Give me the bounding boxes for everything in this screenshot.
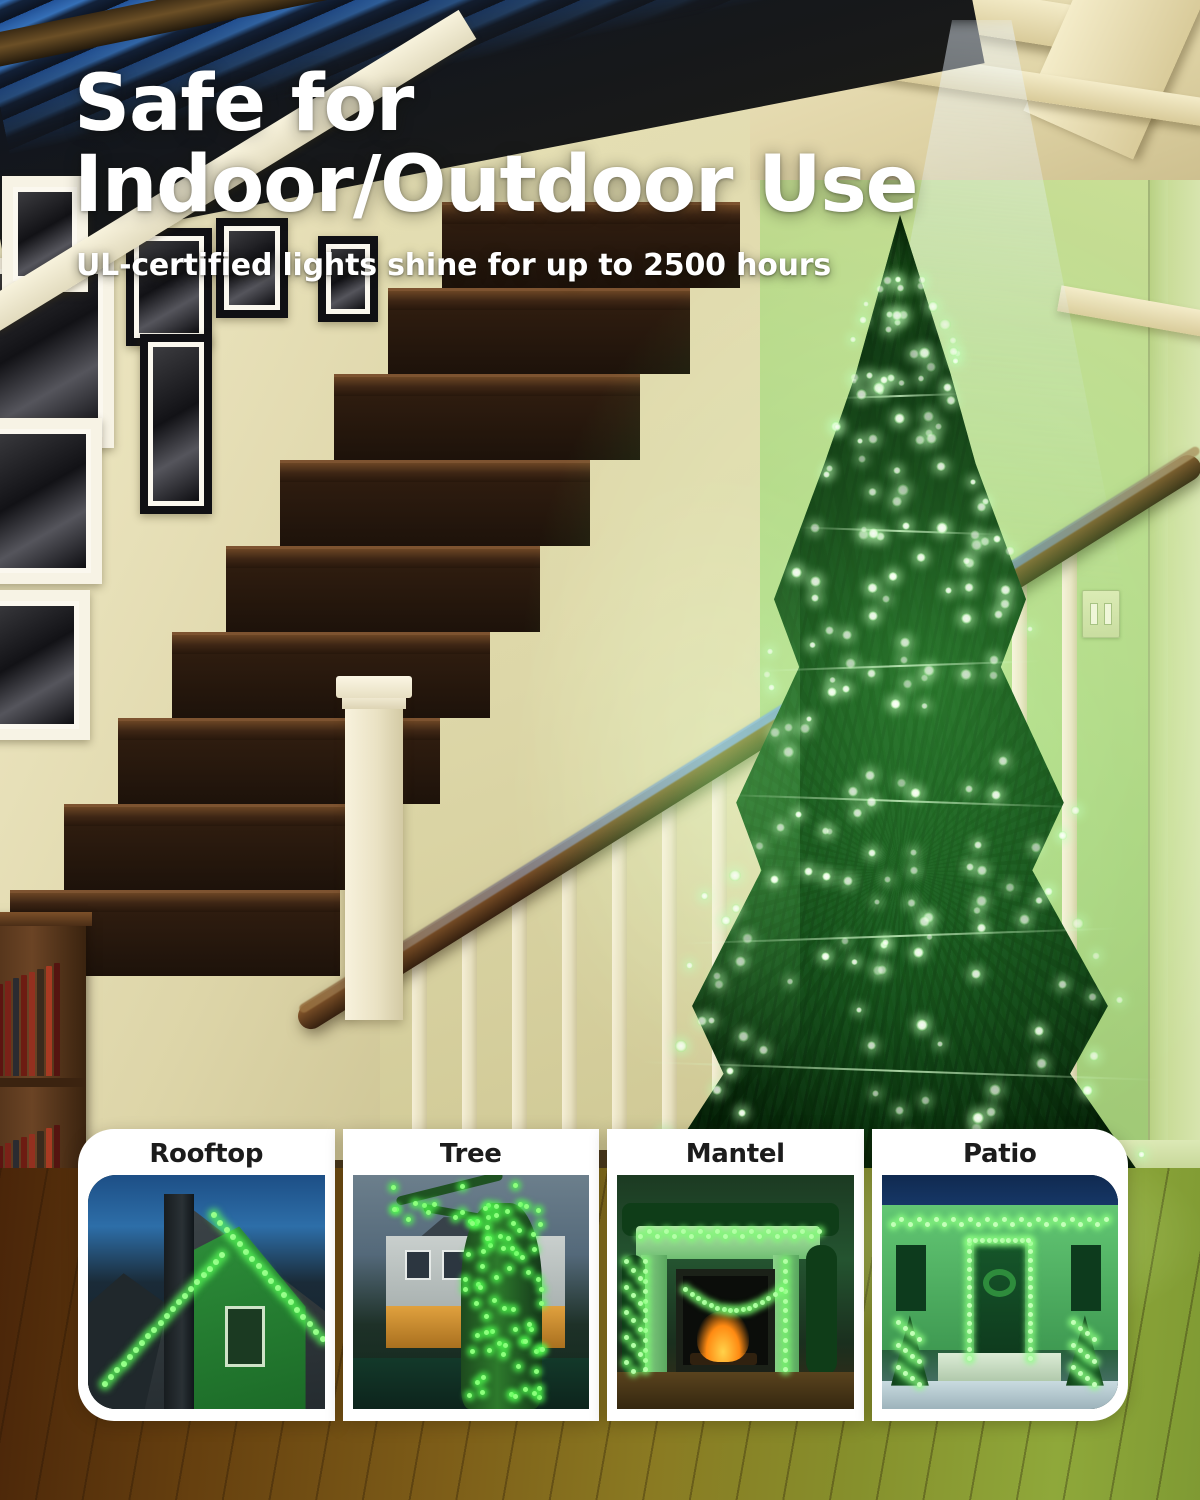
light-bulb (880, 376, 888, 384)
light-bulb (217, 1220, 223, 1226)
light-bulb (910, 849, 917, 856)
light-bulb (967, 1267, 972, 1272)
card-label: Mantel (686, 1137, 785, 1175)
light-bulb (845, 658, 856, 669)
light-bulb (856, 1007, 862, 1013)
light-bulb (935, 423, 942, 430)
card-photo-patio (882, 1175, 1119, 1409)
light-bulb (1028, 1347, 1033, 1352)
light-bulb (1082, 1085, 1093, 1096)
light-bulb (973, 907, 980, 914)
light-bulb (868, 849, 876, 857)
light-bulb (987, 1238, 992, 1243)
stair-riser (64, 826, 390, 890)
light-bulb (951, 1217, 956, 1222)
light-bulb (527, 1322, 532, 1327)
light-bulb (755, 842, 764, 851)
light-bulb (821, 952, 830, 961)
light-bulb (910, 788, 921, 799)
light-bulb (968, 1217, 973, 1222)
light-bulb (945, 587, 952, 594)
product-feature-image: Safe for Indoor/Outdoor Use UL-certified… (0, 0, 1200, 1500)
newel-post (345, 690, 403, 1020)
light-bulb (917, 1382, 922, 1387)
light-bulb (696, 1296, 701, 1301)
light-bulb (991, 790, 1001, 800)
light-bulb (706, 1234, 711, 1239)
light-bulb (967, 1258, 972, 1263)
light-bulb (1028, 1294, 1033, 1299)
light-bulb (531, 1232, 536, 1237)
card-photo-tree (353, 1175, 590, 1409)
headline-line-2: Indoor/Outdoor Use (74, 145, 1034, 226)
light-bulb (182, 1293, 188, 1299)
light-bulb (709, 1303, 714, 1308)
light-bulb (294, 1307, 300, 1313)
light-bulb (460, 1184, 465, 1189)
light-bulb (800, 1229, 805, 1234)
light-bulb (918, 375, 925, 382)
light-bulb (867, 1041, 875, 1049)
light-bulb (643, 1348, 648, 1353)
light-bulb (624, 1285, 629, 1290)
light-bulb (426, 1210, 431, 1215)
light-bulb (497, 1341, 502, 1346)
light-bulb (976, 895, 987, 906)
light-bulb (817, 1229, 822, 1234)
light-bulb (1089, 1051, 1099, 1061)
light-bulb (1020, 1238, 1025, 1243)
light-bulb (915, 435, 924, 444)
light-bulb (894, 413, 905, 424)
light-bulb (887, 374, 895, 382)
light-bulb (432, 1202, 437, 1207)
light-bulb (967, 1285, 972, 1290)
light-bulb (1104, 1217, 1109, 1222)
light-bulb (910, 1354, 915, 1359)
light-bulb (989, 1084, 1001, 1096)
light-bulb (1085, 1354, 1090, 1359)
light-bulb (211, 1212, 217, 1218)
light-bulb (896, 1365, 901, 1370)
light-bulb (872, 1090, 879, 1097)
light-bulb (967, 1238, 972, 1243)
light-bulb (307, 1321, 313, 1327)
light-bulb (783, 1279, 788, 1284)
light-bulb (729, 870, 740, 881)
light-bulb (903, 1371, 908, 1376)
light-bulb (903, 1326, 908, 1331)
light-bulb (900, 637, 911, 648)
use-case-card-patio[interactable]: Patio (872, 1129, 1129, 1421)
light-bulb (759, 1045, 768, 1054)
light-bulb (1092, 1382, 1097, 1387)
light-bulb (856, 389, 867, 400)
light-bulb (1027, 1222, 1032, 1227)
light-bulb (767, 648, 773, 654)
light-bulb (834, 424, 840, 430)
light-bulb (850, 336, 857, 343)
light-bulb (989, 655, 999, 665)
light-bulb (783, 1358, 788, 1363)
light-bulb (1036, 1217, 1041, 1222)
light-bulb (513, 1394, 518, 1399)
light-bulb (775, 1234, 780, 1239)
light-bulb (942, 1222, 947, 1227)
book (54, 963, 60, 1076)
light-bulb (708, 1017, 715, 1024)
light-bulb (882, 939, 889, 946)
stair-riser (280, 482, 590, 546)
light-bulb (513, 1183, 518, 1188)
light-bulb (470, 1349, 475, 1354)
light-bulb (514, 1251, 519, 1256)
light-bulb (773, 1292, 778, 1297)
light-bulb (219, 1252, 225, 1258)
light-bulb (783, 1308, 788, 1313)
light-bulb (158, 1320, 164, 1326)
light-bulb (977, 502, 986, 511)
stair-riser (172, 654, 490, 718)
light-bulb (783, 1269, 788, 1274)
light-bulb (972, 1112, 983, 1123)
light-bulb (121, 1361, 127, 1367)
light-bulb (967, 1347, 972, 1352)
light-bulb (936, 462, 946, 472)
light-bulb (243, 1249, 249, 1255)
book (29, 972, 35, 1076)
page-title: Safe for Indoor/Outdoor Use (74, 64, 1034, 226)
use-case-card-mantel[interactable]: Mantel (607, 1129, 864, 1421)
light-bulb (783, 1299, 788, 1304)
light-bulb (689, 1234, 694, 1239)
light-bulb (643, 1338, 648, 1343)
light-bulb (843, 876, 853, 886)
stair-tread (10, 890, 340, 912)
light-bulb (690, 1292, 695, 1297)
light-bulb (861, 526, 868, 533)
light-bulb (1005, 546, 1015, 556)
light-bulb (539, 1287, 544, 1292)
light-bulb (961, 613, 972, 624)
light-bulb (526, 1270, 531, 1275)
light-bulb (463, 1287, 468, 1292)
card-photo-rooftop (88, 1175, 325, 1409)
light-bulb (207, 1266, 213, 1272)
light-bulb (488, 1243, 493, 1248)
light-bulb (467, 1393, 472, 1398)
light-bulb (760, 1300, 765, 1305)
light-bulb (977, 865, 987, 875)
light-bulb (804, 867, 813, 876)
light-bulb (896, 1343, 901, 1348)
light-bulb (791, 567, 802, 578)
light-bulb (868, 528, 879, 539)
light-bulb (783, 1328, 788, 1333)
light-bulb (697, 1016, 707, 1026)
stair-tread (172, 632, 490, 654)
light-bulb (133, 1347, 139, 1353)
light-bulb (1000, 1238, 1005, 1243)
light-bulb (928, 301, 939, 312)
light-bulb (517, 1228, 522, 1233)
light-bulb (1035, 897, 1042, 904)
light-bulb (1028, 1303, 1033, 1308)
light-bulb (1087, 1217, 1092, 1222)
light-bulb (638, 1327, 643, 1332)
light-bulb (1010, 1222, 1015, 1227)
light-bulb (908, 1222, 913, 1227)
light-bulb (783, 1318, 788, 1323)
light-bulb (537, 1386, 542, 1391)
light-bulb (715, 1229, 720, 1234)
light-bulb (783, 1259, 788, 1264)
light-bulb (713, 972, 721, 980)
light-bulb (406, 1217, 411, 1222)
light-bulb (453, 1215, 458, 1220)
light-bulb (783, 746, 794, 757)
light-bulb (524, 1204, 529, 1209)
light-bulb (926, 433, 936, 443)
stair-tread (226, 546, 540, 568)
light-bulb (520, 1255, 525, 1260)
light-bulb (967, 1321, 972, 1326)
use-case-card-tree[interactable]: Tree (343, 1129, 600, 1421)
light-bulb (903, 1348, 908, 1353)
light-bulb (853, 808, 863, 818)
light-bulb (1070, 1217, 1075, 1222)
light-bulb (536, 1208, 541, 1213)
light-bulb (897, 284, 904, 291)
light-bulb (647, 1229, 652, 1234)
book (5, 981, 11, 1076)
light-bulb (1071, 1343, 1076, 1348)
light-bulb (484, 1330, 489, 1335)
light-bulb (763, 671, 771, 679)
light-bulb (643, 1289, 648, 1294)
light-bulb (164, 1313, 170, 1319)
light-bulb (1028, 1321, 1033, 1326)
light-bulb (643, 1328, 648, 1333)
light-bulb (913, 947, 924, 958)
light-bulb (275, 1285, 281, 1291)
light-bulb (916, 1019, 928, 1031)
bookshelf-divider (0, 1078, 86, 1087)
light-bulb (534, 1349, 539, 1354)
light-bulb (1092, 952, 1100, 960)
light-bulb (501, 1246, 506, 1251)
newel-post-cap (336, 676, 412, 698)
light-bulb (842, 630, 852, 640)
light-bulb (921, 703, 927, 709)
light-bulb (643, 1279, 648, 1284)
light-bulb (256, 1263, 262, 1269)
light-bulb (770, 727, 781, 738)
light-bulb (1138, 1151, 1145, 1158)
light-bulb (917, 1217, 922, 1222)
light-bulb (867, 669, 875, 677)
light-bulb (313, 1329, 319, 1335)
light-bulb (1027, 626, 1033, 632)
light-bulb (985, 1217, 990, 1222)
light-bulb (888, 572, 898, 582)
light-bulb (127, 1354, 133, 1360)
light-bulb (967, 1338, 972, 1343)
light-bulb (917, 1337, 922, 1342)
light-bulb (516, 1364, 521, 1369)
light-bulb (523, 1339, 528, 1344)
light-bulb (1071, 1320, 1076, 1325)
light-bulb (993, 535, 1001, 543)
light-bulb (1071, 806, 1080, 815)
use-case-card-strip: Rooftop Tree (78, 1129, 1128, 1421)
light-bulb (701, 892, 709, 900)
card-label: Rooftop (149, 1137, 263, 1175)
light-bulb (722, 1307, 727, 1312)
light-bulb (842, 685, 850, 693)
light-bulb (959, 1222, 964, 1227)
light-bulb (934, 1217, 939, 1222)
light-bulb (823, 471, 830, 478)
use-case-card-rooftop[interactable]: Rooftop (78, 1129, 335, 1421)
light-bulb (923, 411, 934, 422)
light-bulb (320, 1336, 325, 1342)
card-label: Patio (963, 1137, 1037, 1175)
light-bulb (896, 1320, 901, 1325)
bookshelf-top (0, 912, 92, 926)
light-bulb (874, 899, 880, 905)
light-bulb (967, 1294, 972, 1299)
light-bulb (494, 1204, 499, 1209)
light-bulb (859, 316, 867, 324)
stair-tread (280, 460, 590, 482)
light-bulb (510, 1246, 515, 1251)
light-bulb (213, 1259, 219, 1265)
light-bulb (783, 1229, 788, 1234)
light-bulb (698, 1229, 703, 1234)
light-bulb (539, 1301, 544, 1306)
light-bulb (643, 1358, 648, 1363)
card-label: Tree (440, 1137, 502, 1175)
book (21, 975, 27, 1076)
light-bulb (952, 358, 959, 365)
light-bulb (787, 978, 793, 984)
light-bulb (890, 699, 900, 709)
light-bulb (949, 347, 958, 356)
light-bulb (1058, 980, 1067, 989)
light-bulb (811, 594, 819, 602)
light-bulb (907, 899, 915, 907)
light-bulb (949, 337, 957, 345)
light-bulb (735, 956, 746, 967)
light-bulb (893, 467, 901, 475)
light-bulb (1072, 918, 1083, 929)
light-bulb (534, 1369, 539, 1374)
light-bulb (809, 1234, 814, 1239)
light-bulb (939, 319, 950, 330)
light-bulb (624, 1310, 629, 1315)
light-bulb (967, 1303, 972, 1308)
light-bulb (492, 1298, 497, 1303)
light-bulb (895, 1106, 904, 1115)
light-bulb (1071, 1365, 1076, 1370)
light-bulb (792, 1234, 797, 1239)
light-bulb (994, 610, 1003, 619)
light-bulb (963, 557, 970, 564)
card-photo-mantel (617, 1175, 854, 1409)
light-bulb (643, 1299, 648, 1304)
light-bulb (638, 1234, 643, 1239)
light-bulb (538, 1222, 543, 1227)
light-bulb (540, 1347, 545, 1352)
light-bulb (925, 1222, 930, 1227)
light-bulb (783, 1338, 788, 1343)
light-bulb (783, 1367, 788, 1372)
light-bulb (1019, 1217, 1024, 1222)
light-bulb (631, 1369, 636, 1374)
light-bulb (826, 828, 833, 835)
light-bulb (829, 677, 835, 683)
light-bulb (747, 1306, 752, 1311)
light-bulb (480, 1390, 485, 1395)
light-bulb (655, 1234, 660, 1239)
light-bulb (977, 923, 986, 932)
light-bulb (529, 1327, 534, 1332)
light-bulb (1078, 1326, 1083, 1331)
light-bulb (1044, 887, 1053, 896)
light-bulb (1116, 996, 1124, 1004)
light-bulb (712, 1085, 721, 1094)
light-bulb (866, 797, 876, 807)
light-bulb (810, 576, 821, 587)
light-bulb (897, 484, 909, 496)
light-bulb (783, 1348, 788, 1353)
light-bulb (732, 904, 740, 912)
light-bulb (664, 1229, 669, 1234)
light-bulb (967, 1356, 972, 1361)
light-bulb (742, 933, 753, 944)
book (0, 984, 3, 1076)
light-bulb (1005, 883, 1015, 893)
light-bulb (923, 665, 934, 676)
light-bulb (1088, 993, 1096, 1001)
light-bulb (686, 962, 693, 969)
light-bulb (900, 656, 908, 664)
light-bulb (738, 1109, 745, 1116)
light-bulb (891, 1222, 896, 1227)
light-bulb (976, 1222, 981, 1227)
light-bulb (967, 1276, 972, 1281)
light-bulb (721, 916, 731, 926)
light-bulb (1058, 831, 1067, 840)
light-bulb (681, 1229, 686, 1234)
light-bulb (672, 1234, 677, 1239)
light-bulb (971, 969, 981, 979)
light-bulb (1092, 1337, 1097, 1342)
stair-tread (64, 804, 390, 826)
light-bulb (986, 1107, 996, 1117)
light-bulb (1028, 1312, 1033, 1317)
light-bulb (868, 488, 877, 497)
headline-line-1: Safe for (74, 59, 413, 149)
light-bulb (715, 1306, 720, 1311)
light-bulb (518, 1202, 523, 1207)
light-bulb (201, 1272, 207, 1278)
light-bulb (1002, 1217, 1007, 1222)
light-bulb (876, 285, 884, 293)
book (13, 978, 19, 1076)
light-bulb (1078, 1371, 1083, 1376)
